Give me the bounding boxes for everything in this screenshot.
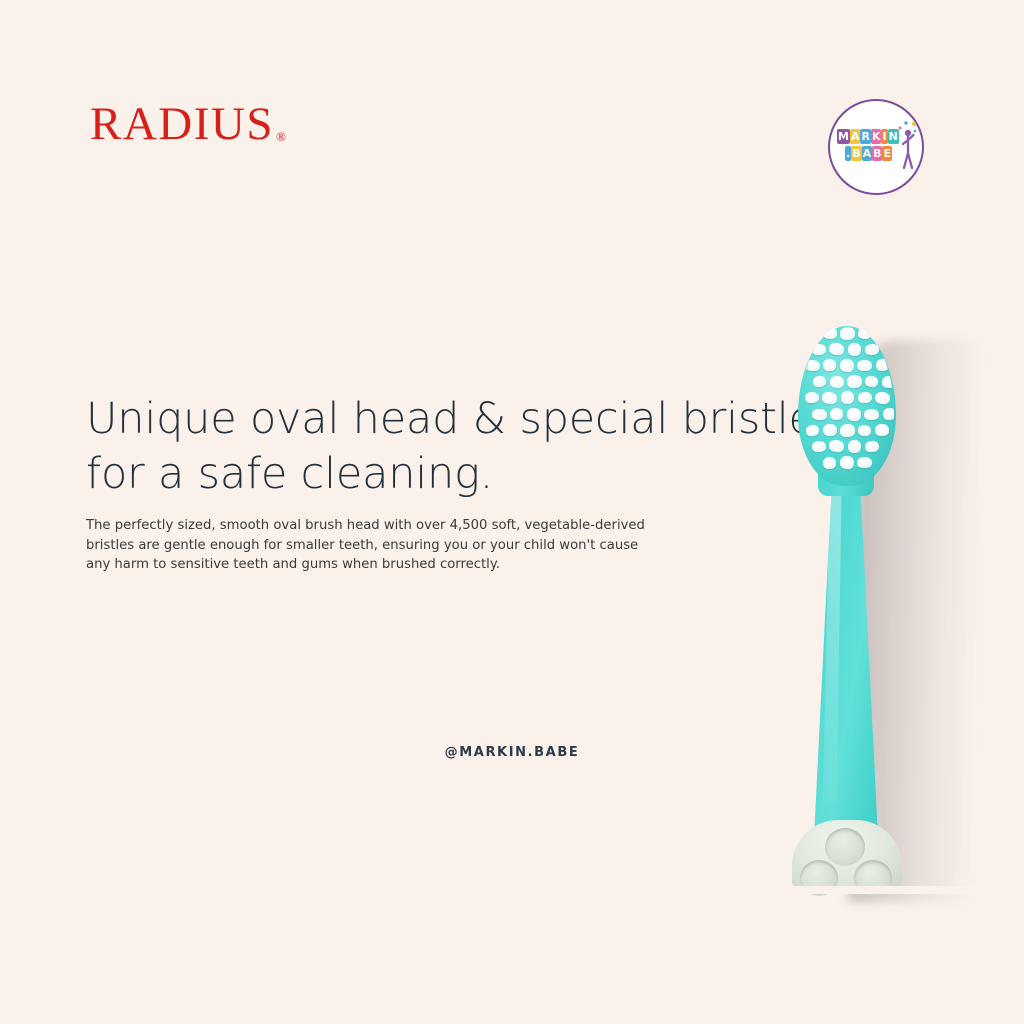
product-toothbrush-image — [770, 318, 1000, 888]
bristle-tuft — [857, 327, 871, 340]
bristle-tuft — [839, 326, 855, 340]
bristle-tuft — [829, 375, 844, 388]
bristle-tuft — [828, 439, 845, 453]
bristle-tuft — [821, 391, 838, 405]
bristle-tuft — [839, 358, 855, 373]
bristle-tuft — [822, 327, 837, 340]
bristle-tuft — [882, 407, 894, 420]
bristle-tuft — [847, 440, 860, 453]
bristle-tuft — [857, 424, 871, 437]
bristle-tuft — [874, 391, 890, 405]
bristle-tuft — [830, 408, 844, 421]
bristle-tuft — [857, 457, 872, 468]
bristle-tuft — [864, 343, 879, 355]
bristle-tuft — [805, 424, 820, 437]
bristle-tuft — [864, 440, 879, 452]
bristle-tuft — [823, 359, 837, 372]
photo-bottom-crop — [770, 886, 1000, 894]
brand-name: RADIUS — [90, 98, 274, 150]
badge-line-1: MARKIN — [837, 129, 899, 144]
bristle-tuft — [839, 423, 855, 437]
bristle-tuft — [822, 424, 837, 437]
badge-inner: MARKIN .BABE — [837, 116, 915, 178]
bristle-tuft — [805, 392, 820, 404]
markin-babe-badge: MARKIN .BABE — [828, 99, 924, 195]
bristle-tuft — [857, 360, 872, 371]
badge-line-2: .BABE — [845, 146, 892, 161]
bristle-tuft — [812, 343, 827, 355]
toothbrush-grip-pad — [792, 820, 902, 890]
bristle-tuft — [847, 342, 860, 355]
radius-brand-logo: RADIUS® — [90, 101, 287, 148]
bristle-tuft — [828, 342, 845, 356]
bristle-tuft — [846, 406, 862, 421]
bristle-tuft — [823, 456, 837, 469]
body-paragraph: The perfectly sized, smooth oval brush h… — [86, 516, 652, 575]
bristle-tuft — [875, 424, 889, 436]
registered-trademark-icon: ® — [276, 129, 287, 144]
bristle-tuft — [811, 408, 827, 420]
bristle-tuft — [864, 375, 878, 388]
bristle-tuft — [846, 374, 862, 388]
headline: Unique oval head & special bristles for … — [86, 392, 846, 502]
bristle-tuft — [804, 359, 820, 371]
bristle-tuft — [840, 391, 853, 404]
poster-canvas: RADIUS® MARKIN .BABE Unique oval head & … — [0, 0, 1024, 1024]
grip-indent-top — [825, 828, 865, 866]
bristle-tuft — [882, 376, 894, 388]
bristle-tuft — [875, 359, 889, 372]
bristle-tuft — [839, 455, 855, 470]
bristle-tuft — [864, 408, 879, 419]
person-figure-icon — [897, 120, 917, 174]
bristle-tuft — [812, 441, 827, 453]
bristle-tuft — [857, 392, 872, 404]
bristle-tuft — [812, 375, 827, 388]
